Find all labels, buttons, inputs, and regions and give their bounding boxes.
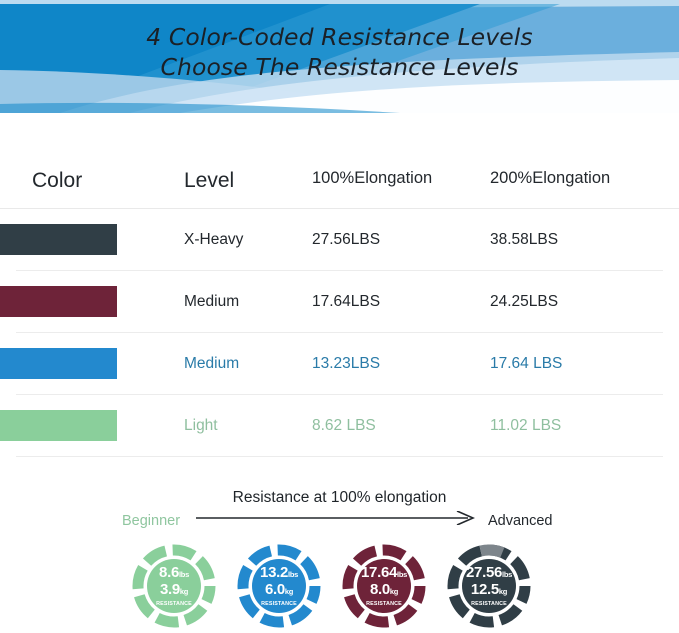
header-banner: 4 Color-Coded Resistance Levels Choose T… [0,0,679,113]
dial-lbs-value: 13.2 [260,564,288,581]
dial-kg-unit: kg [180,587,188,596]
dial-kg: 8.0kg [370,582,398,597]
cell-elongation-100: 8.62 LBS [312,417,376,435]
cell-elongation-200: 24.25LBS [490,293,558,311]
color-swatch [0,410,117,441]
dial-medium-red: 17.64lbs 8.0kg RESISTANCE [342,544,426,628]
cell-level: Light [184,417,218,435]
dial-kg: 3.9kg [160,582,188,597]
color-swatch [0,348,117,379]
column-header-level: Level [184,169,234,193]
dial-lbs: 27.56lbs [466,565,512,580]
dial-lbs: 13.2lbs [260,565,298,580]
resistance-dials: 8.6lbs 3.9kg RESISTANCE 13.2lbs 6.0kg RE… [0,544,679,633]
table-divider [16,456,663,457]
table-row: X-Heavy 27.56LBS 38.58LBS [0,209,679,270]
dial-lbs: 17.64lbs [361,565,407,580]
dial-kg-unit: kg [285,587,293,596]
dial-kg-unit: kg [499,587,507,596]
dial-lbs-value: 17.64 [361,564,397,581]
table-row: Medium 17.64LBS 24.25LBS [0,271,679,332]
column-header-color: Color [32,169,82,193]
dial-medium-blue: 13.2lbs 6.0kg RESISTANCE [237,544,321,628]
dial-kg: 6.0kg [265,582,293,597]
dial-readout: 8.6lbs 3.9kg RESISTANCE [132,544,216,628]
scale-label-advanced: Advanced [488,513,553,529]
dial-readout: 17.64lbs 8.0kg RESISTANCE [342,544,426,628]
table-header-row: Color Level 100%Elongation 200%Elongatio… [0,113,679,208]
cell-elongation-200: 38.58LBS [490,231,558,249]
color-swatch [0,286,117,317]
dial-lbs-unit: lbs [397,570,407,579]
dial-kg-value: 12.5 [471,581,499,598]
dial-caption: RESISTANCE [366,602,402,607]
title-line-2: Choose The Resistance Levels [0,52,679,82]
table-row: Medium 13.23LBS 17.64 LBS [0,333,679,394]
dial-kg-value: 8.0 [370,581,390,598]
column-header-elongation-100: 100%Elongation [312,169,432,188]
dial-light: 8.6lbs 3.9kg RESISTANCE [132,544,216,628]
cell-elongation-100: 13.23LBS [312,355,380,373]
scale-caption: Resistance at 100% elongation [0,489,679,507]
cell-elongation-200: 11.02 LBS [490,417,561,435]
cell-level: Medium [184,355,239,373]
cell-elongation-200: 17.64 LBS [490,355,562,373]
dial-kg-value: 6.0 [265,581,285,598]
table-row: Light 8.62 LBS 11.02 LBS [0,395,679,456]
dial-kg-value: 3.9 [160,581,180,598]
dial-kg-unit: kg [390,587,398,596]
cell-elongation-100: 27.56LBS [312,231,380,249]
dial-kg: 12.5kg [471,582,507,597]
dial-caption: RESISTANCE [156,602,192,607]
dial-lbs-unit: lbs [502,570,512,579]
dial-lbs-unit: lbs [179,570,189,579]
arrow-right-icon [196,511,482,525]
page-title: 4 Color-Coded Resistance Levels Choose T… [0,22,679,82]
color-swatch [0,224,117,255]
dial-readout: 13.2lbs 6.0kg RESISTANCE [237,544,321,628]
dial-x-heavy: 27.56lbs 12.5kg RESISTANCE [447,544,531,628]
cell-level: X-Heavy [184,231,243,249]
dial-lbs-value: 27.56 [466,564,502,581]
scale-label-beginner: Beginner [122,513,180,529]
dial-readout: 27.56lbs 12.5kg RESISTANCE [447,544,531,628]
dial-caption: RESISTANCE [261,602,297,607]
dial-lbs: 8.6lbs [159,565,189,580]
cell-elongation-100: 17.64LBS [312,293,380,311]
resistance-scale: Resistance at 100% elongation Beginner A… [0,489,679,539]
dial-lbs-value: 8.6 [159,564,179,581]
title-line-1: 4 Color-Coded Resistance Levels [146,23,532,51]
cell-level: Medium [184,293,239,311]
resistance-table: Color Level 100%Elongation 200%Elongatio… [0,113,679,457]
dial-lbs-unit: lbs [288,570,298,579]
dial-caption: RESISTANCE [471,602,507,607]
column-header-elongation-200: 200%Elongation [490,169,610,188]
